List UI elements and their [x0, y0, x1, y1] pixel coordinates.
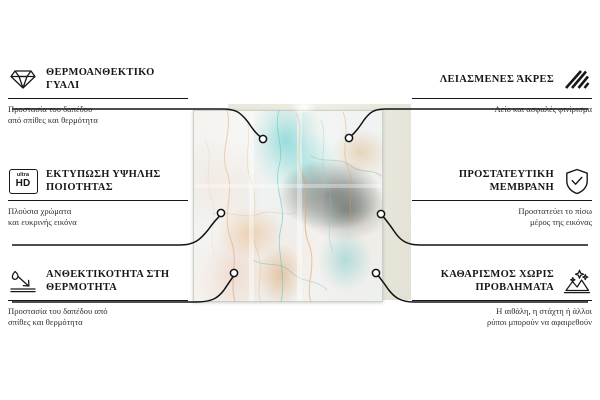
feature-high-quality-print: ultra HD ΕΚΤΥΠΩΣΗ ΥΨΗΛΗΣ ΠΟΙΟΤΗΤΑΣ Πλούσ… [8, 166, 188, 229]
feature-heat-durability: ΑΝΘΕΚΤΙΚΟΤΗΤΑ ΣΤΗ ΘΕΡΜΟΤΗΤΑ Προστασία το… [8, 266, 188, 329]
feature-title: ΚΑΘΑΡΙΣΜΟΣ ΧΩΡΙΣ ΠΡΟΒΛΗΜΑΤΑ [412, 268, 554, 294]
feature-description: Προστασία του δαπέδου από σπίθες και θερ… [8, 306, 188, 329]
product-glass-panel [193, 110, 383, 302]
diamond-icon [8, 64, 38, 94]
feature-description: Πλούσια χρώματα και ευκρινής εικόνα [8, 206, 188, 229]
feature-description-line-1: Προστασία του δαπέδου από [8, 306, 188, 317]
feature-title: ΠΡΟΣΤΑΤΕΥΤΙΚΗ ΜΕΜΒΡΑΝΗ [412, 168, 554, 194]
feature-polished-edges: ΛΕΙΑΣΜΕΝΕΣ ΆΚΡΕΣ Λείο και ασφαλές φινίρι… [412, 64, 592, 115]
ultra-hd-badge-icon: ultra HD [8, 166, 38, 196]
feature-heat-resistant-glass: ΘΕΡΜΟΑΝΘΕΚΤΙΚΟ ΓΥΑΛΙ Προστασία του δαπέδ… [8, 64, 188, 127]
feature-description-line-2: από σπίθες και θερμότητα [8, 115, 188, 126]
feature-description-line-2: μέρος της εικόνας [412, 217, 592, 228]
feature-description-line-1: Λείο και ασφαλές φινίρισμα [412, 104, 592, 115]
feature-header: ultra HD ΕΚΤΥΠΩΣΗ ΥΨΗΛΗΣ ΠΟΙΟΤΗΤΑΣ [8, 166, 188, 196]
feature-description: Προστασία του δαπέδου από σπίθες και θερ… [8, 104, 188, 127]
divider [412, 200, 592, 201]
shield-check-icon [562, 166, 592, 196]
feature-description: Η αιθάλη, η στάχτη ή άλλοι ρύποι μπορούν… [412, 306, 592, 329]
ink-vein-lines [193, 110, 383, 302]
polished-edges-icon [562, 64, 592, 94]
feature-protective-membrane: ΠΡΟΣΤΑΤΕΥΤΙΚΗ ΜΕΜΒΡΑΝΗ Προστατεύει το πί… [412, 166, 592, 229]
divider [8, 200, 188, 201]
divider [412, 98, 592, 99]
feature-title: ΕΚΤΥΠΩΣΗ ΥΨΗΛΗΣ ΠΟΙΟΤΗΤΑΣ [46, 168, 188, 194]
feature-header: ΘΕΡΜΟΑΝΘΕΚΤΙΚΟ ΓΥΑΛΙ [8, 64, 188, 94]
hd-badge: ultra HD [9, 169, 38, 194]
feature-description-line-1: Η αιθάλη, η στάχτη ή άλλοι [412, 306, 592, 317]
feature-title: ΘΕΡΜΟΑΝΘΕΚΤΙΚΟ ΓΥΑΛΙ [46, 66, 188, 92]
feature-title: ΛΕΙΑΣΜΕΝΕΣ ΆΚΡΕΣ [412, 73, 554, 86]
feature-description-line-2: και ευκρινής εικόνα [8, 217, 188, 228]
feature-header: ΛΕΙΑΣΜΕΝΕΣ ΆΚΡΕΣ [412, 64, 592, 94]
feature-title: ΑΝΘΕΚΤΙΚΟΤΗΤΑ ΣΤΗ ΘΕΡΜΟΤΗΤΑ [46, 268, 188, 294]
feature-header: ΚΑΘΑΡΙΣΜΟΣ ΧΩΡΙΣ ΠΡΟΒΛΗΜΑΤΑ [412, 266, 592, 296]
feature-header: ΠΡΟΣΤΑΤΕΥΤΙΚΗ ΜΕΜΒΡΑΝΗ [412, 166, 592, 196]
divider [8, 98, 188, 99]
easy-clean-sparkle-icon [562, 266, 592, 296]
divider [8, 300, 188, 301]
feature-description-line-1: Προστατεύει το πίσω [412, 206, 592, 217]
product-feature-infographic: ΘΕΡΜΟΑΝΘΕΚΤΙΚΟ ΓΥΑΛΙ Προστασία του δαπέδ… [0, 0, 600, 400]
feature-description: Λείο και ασφαλές φινίρισμα [412, 104, 592, 115]
feature-description-line-1: Πλούσια χρώματα [8, 206, 188, 217]
feature-description-line-1: Προστασία του δαπέδου [8, 104, 188, 115]
feature-description-line-2: ρύποι μπορούν να αφαιρεθούν [412, 317, 592, 328]
feature-description-line-2: σπίθες και θερμότητα [8, 317, 188, 328]
hd-badge-large-label: HD [16, 179, 31, 189]
flame-deflect-icon [8, 266, 38, 296]
feature-easy-cleaning: ΚΑΘΑΡΙΣΜΟΣ ΧΩΡΙΣ ΠΡΟΒΛΗΜΑΤΑ Η αιθάλη, η … [412, 266, 592, 329]
feature-header: ΑΝΘΕΚΤΙΚΟΤΗΤΑ ΣΤΗ ΘΕΡΜΟΤΗΤΑ [8, 266, 188, 296]
divider [412, 300, 592, 301]
feature-description: Προστατεύει το πίσω μέρος της εικόνας [412, 206, 592, 229]
product-image [183, 104, 411, 304]
